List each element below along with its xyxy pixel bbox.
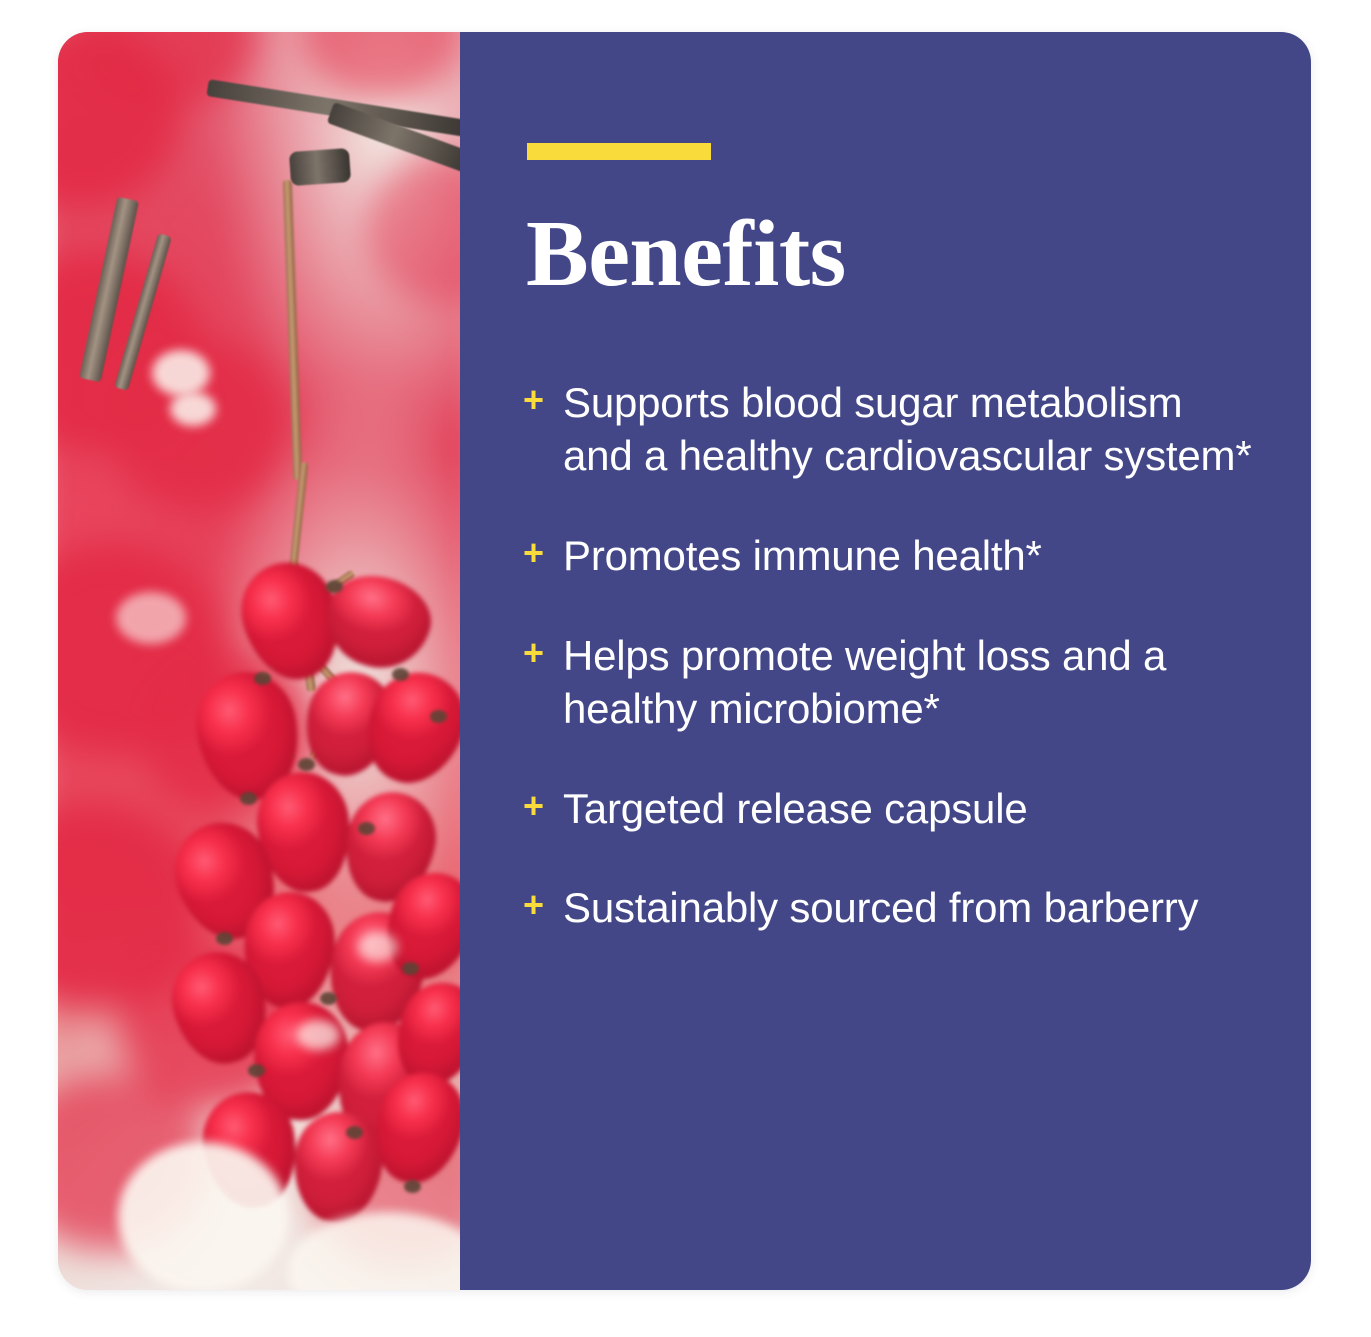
- benefits-list: + Supports blood sugar metabolism and a …: [523, 377, 1263, 935]
- benefits-card: Benefits + Supports blood sugar metaboli…: [58, 32, 1311, 1290]
- benefit-item: + Sustainably sourced from barberry: [523, 882, 1263, 935]
- benefits-panel: Benefits + Supports blood sugar metaboli…: [460, 32, 1311, 1290]
- plus-icon: +: [523, 638, 549, 668]
- benefit-text: Sustainably sourced from barberry: [563, 882, 1263, 935]
- benefit-item: + Targeted release capsule: [523, 783, 1263, 836]
- plus-icon: +: [523, 890, 549, 920]
- photo-highlights: [58, 32, 460, 1290]
- benefit-item: + Promotes immune health*: [523, 530, 1263, 583]
- plus-icon: +: [523, 385, 549, 415]
- benefit-item: + Helps promote weight loss and a health…: [523, 630, 1263, 736]
- page-root: Benefits + Supports blood sugar metaboli…: [0, 0, 1371, 1337]
- benefit-text: Promotes immune health*: [563, 530, 1263, 583]
- accent-rule: [527, 143, 711, 160]
- plus-icon: +: [523, 538, 549, 568]
- benefit-text: Supports blood sugar metabolism and a he…: [563, 377, 1263, 483]
- benefit-text: Helps promote weight loss and a healthy …: [563, 630, 1263, 736]
- benefit-item: + Supports blood sugar metabolism and a …: [523, 377, 1263, 483]
- benefit-text: Targeted release capsule: [563, 783, 1263, 836]
- plus-icon: +: [523, 791, 549, 821]
- barberry-photo: [58, 32, 460, 1290]
- page-title: Benefits: [526, 207, 846, 301]
